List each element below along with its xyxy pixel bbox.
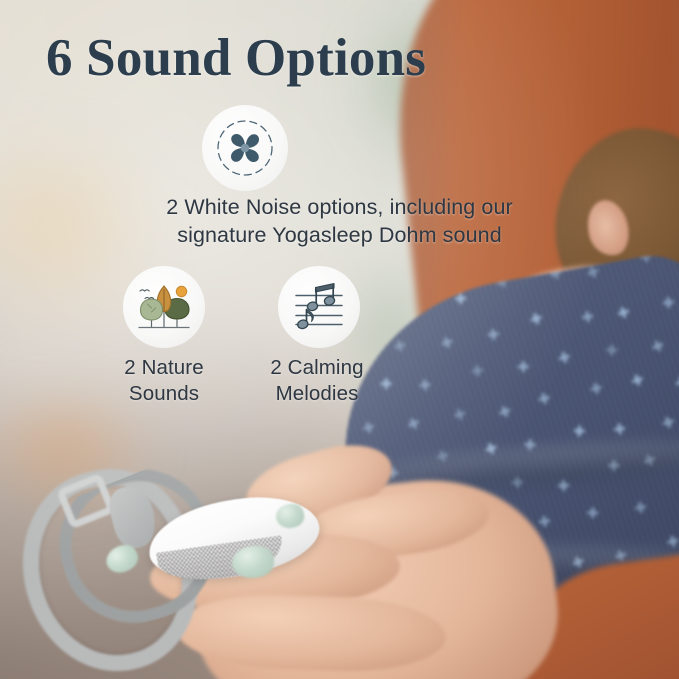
white-noise-caption: 2 White Noise options, including our sig… [0,194,679,250]
trees-nature-icon [135,278,193,336]
nature-sounds-caption-line2: Sounds [79,381,249,407]
nature-icon-badge [123,266,205,348]
white-noise-caption-line2: signature Yogasleep Dohm sound [0,222,679,250]
feature-overlay: 6 Sound Options 2 White Noise options, i… [0,0,679,679]
page-title: 6 Sound Options [46,30,426,86]
music-notes-icon [290,278,348,336]
nature-sounds-caption-line1: 2 Nature [79,355,249,381]
fan-icon [214,117,276,179]
calming-melodies-caption-line2: Melodies [232,381,402,407]
product-feature-image: 6 Sound Options 2 White Noise options, i… [0,0,679,679]
nature-sounds-caption: 2 Nature Sounds [79,355,249,407]
music-icon-badge [278,266,360,348]
calming-melodies-caption: 2 Calming Melodies [232,355,402,407]
white-noise-caption-line1: 2 White Noise options, including our [0,194,679,222]
calming-melodies-caption-line1: 2 Calming [232,355,402,381]
fan-icon-badge [202,105,288,191]
